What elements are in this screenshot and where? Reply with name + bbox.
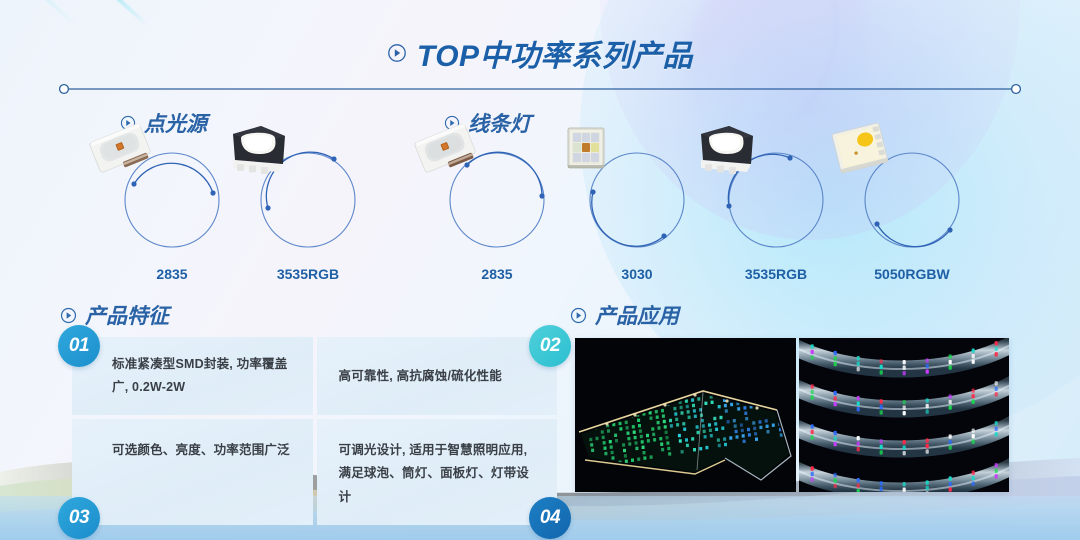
feature-badge: 04 — [529, 497, 571, 539]
rgb-led-strip-photo[interactable] — [799, 338, 1009, 492]
play-circle-icon — [387, 43, 407, 63]
product-card[interactable]: 3535RGB — [724, 148, 828, 282]
background-cyan-ray-secondary — [0, 0, 77, 26]
page-title: TOP中功率系列产品 — [417, 31, 693, 75]
background-cyan-ray — [0, 0, 149, 27]
product-ring — [445, 148, 549, 252]
section-label: 产品应用 — [595, 300, 679, 330]
product-label: 2835 — [445, 266, 549, 282]
smd-3030-chip — [552, 118, 618, 178]
product-label: 3535RGB — [724, 266, 828, 282]
play-circle-icon — [60, 307, 77, 324]
smd-2835-chip — [412, 118, 478, 178]
product-ring — [860, 148, 964, 252]
product-ring — [256, 148, 360, 252]
smd-5050rgbw-chip — [827, 118, 893, 178]
product-ring — [585, 148, 689, 252]
feature-card-01[interactable]: 01 标准紧凑型SMD封装, 功率覆盖广, 0.2W-2W — [72, 337, 313, 415]
facade-pixel-light-photo[interactable] — [575, 338, 796, 492]
feature-badge: 02 — [529, 325, 571, 367]
product-label: 3030 — [585, 266, 689, 282]
product-label: 5050RGBW — [860, 266, 964, 282]
section-heading-applications: 产品应用 — [570, 300, 679, 330]
feature-card-03[interactable]: 03 可选颜色、亮度、功率范围广泛 — [72, 419, 313, 524]
feature-text: 高可靠性, 高抗腐蚀/硫化性能 — [335, 365, 502, 388]
smd-3535rgb-chip — [691, 118, 757, 178]
feature-badge: 01 — [58, 325, 100, 367]
product-card[interactable]: 2835 — [120, 148, 224, 282]
feature-text: 可调光设计, 适用于智慧照明应用, 满足球泡、筒灯、面板灯、灯带设计 — [335, 435, 540, 508]
header-divider — [58, 83, 1022, 95]
play-circle-icon — [570, 307, 587, 324]
section-heading-features: 产品特征 — [60, 300, 169, 330]
feature-badge: 03 — [58, 497, 100, 539]
product-card[interactable]: 2835 — [445, 148, 549, 282]
smd-3535rgb-chip — [223, 118, 289, 178]
feature-card-04[interactable]: 04 可调光设计, 适用于智慧照明应用, 满足球泡、筒灯、面板灯、灯带设计 — [317, 419, 558, 524]
product-ring — [724, 148, 828, 252]
page-title-row: TOP中功率系列产品 — [0, 30, 1080, 76]
product-card[interactable]: 3030 — [585, 148, 689, 282]
smd-2835-chip — [87, 118, 153, 178]
feature-text: 标准紧凑型SMD封装, 功率覆盖广, 0.2W-2W — [90, 353, 295, 399]
feature-text: 可选颜色、亮度、功率范围广泛 — [90, 435, 290, 462]
feature-card-grid: 01 标准紧凑型SMD封装, 功率覆盖广, 0.2W-2W 02 高可靠性, 高… — [72, 337, 557, 495]
product-ring — [120, 148, 224, 252]
product-card[interactable]: 3535RGB — [256, 148, 360, 282]
product-card[interactable]: 5050RGBW — [860, 148, 964, 282]
product-label: 2835 — [120, 266, 224, 282]
section-label: 产品特征 — [85, 300, 169, 330]
slide-canvas: TOP中功率系列产品 点光源 线条灯 — [0, 0, 1080, 540]
feature-card-02[interactable]: 02 高可靠性, 高抗腐蚀/硫化性能 — [317, 337, 558, 415]
group-label: 点光源 — [144, 108, 207, 138]
application-photo-row — [575, 338, 1009, 492]
product-label: 3535RGB — [256, 266, 360, 282]
